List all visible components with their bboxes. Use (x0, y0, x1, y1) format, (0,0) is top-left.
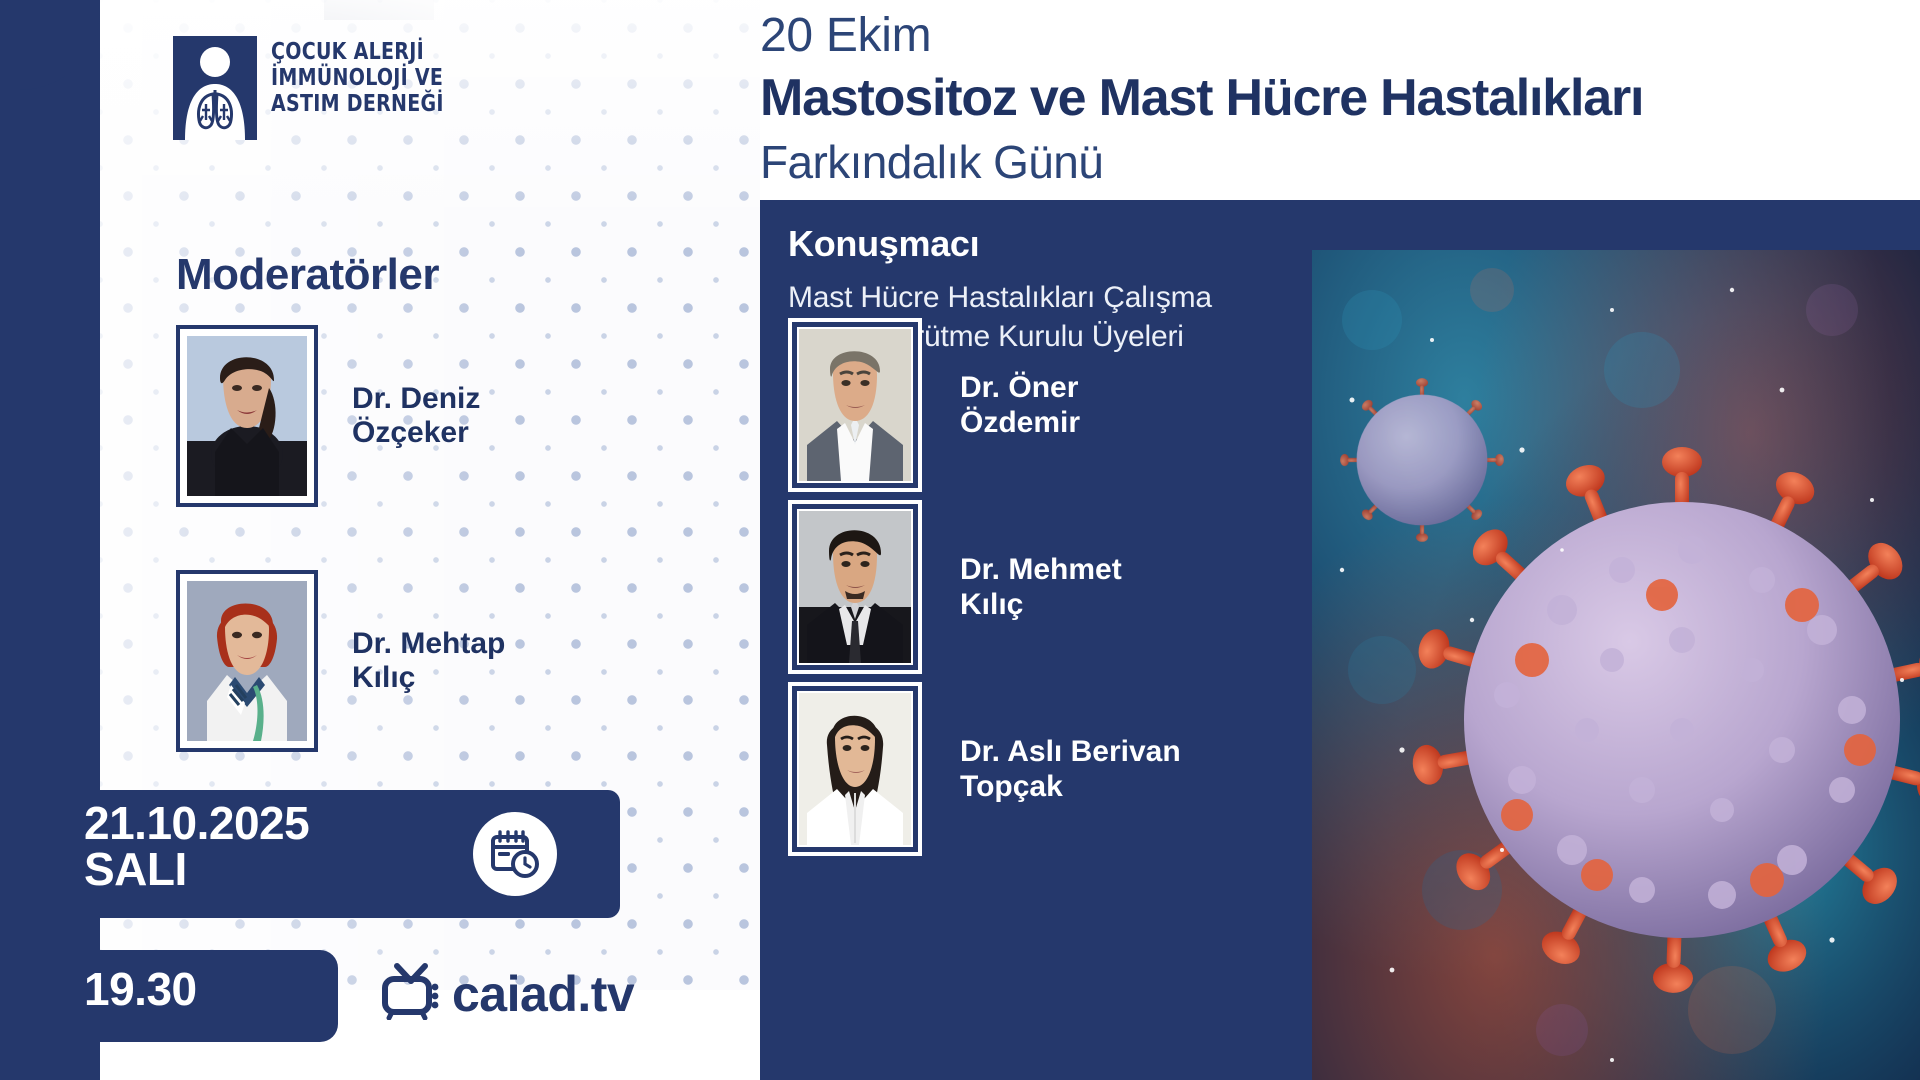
left-column: ÇOCUK ALERJİ İMMÜNOLOJİ VE ASTIM DERNEĞİ… (0, 0, 760, 1080)
channel-row[interactable]: caiad.tv (380, 962, 634, 1025)
speaker-photo-frame (788, 500, 922, 674)
speaker-photo-frame (788, 318, 922, 492)
moderator-photo-frame (176, 570, 318, 752)
header-date: 20 Ekim (760, 8, 931, 63)
speaker-item-2: Dr. Aslı Berivan Topçak (788, 682, 1181, 856)
moderator-item-1: Dr. Mehtap Kılıç (176, 570, 505, 752)
event-poster: ÇOCUK ALERJİ İMMÜNOLOJİ VE ASTIM DERNEĞİ… (0, 0, 1920, 1080)
speaker-photo-frame (788, 682, 922, 856)
left-navy-bar (0, 0, 100, 1080)
speaker-photo (797, 327, 913, 483)
moderator-name: Dr. Mehtap Kılıç (352, 627, 505, 696)
tv-icon (380, 962, 442, 1025)
event-time: 19.30 (84, 962, 197, 1016)
moderator-photo-frame (176, 325, 318, 507)
speaker-item-1: Dr. Mehmet Kılıç (788, 500, 1122, 674)
speaker-name: Dr. Aslı Berivan Topçak (960, 734, 1181, 805)
moderators-heading: Moderatörler (176, 250, 439, 300)
event-date: 21.10.2025 SALI (84, 800, 309, 892)
moderator-item-0: Dr. Deniz Özçeker (176, 325, 480, 507)
moderator-photo (185, 579, 309, 743)
speakers-heading: Konuşmacı (788, 223, 979, 265)
organization-name: ÇOCUK ALERJİ İMMÜNOLOJİ VE ASTIM DERNEĞİ (271, 36, 444, 117)
virus-cell-image (1312, 250, 1920, 1080)
moderator-name: Dr. Deniz Özçeker (352, 382, 480, 451)
speaker-name: Dr. Mehmet Kılıç (960, 552, 1122, 623)
speaker-photo (797, 691, 913, 847)
right-column: 20 Ekim Mastositoz ve Mast Hücre Hastalı… (760, 0, 1920, 1080)
organization-logo: ÇOCUK ALERJİ İMMÜNOLOJİ VE ASTIM DERNEĞİ (173, 36, 459, 140)
speaker-photo (797, 509, 913, 665)
calendar-clock-icon (473, 812, 557, 896)
moderator-photo (185, 334, 309, 498)
speakers-panel: Konuşmacı Mast Hücre Hastalıkları Çalışm… (760, 200, 1920, 1080)
page-title: Mastositoz ve Mast Hücre Hastalıkları (760, 68, 1643, 128)
page-subtitle: Farkındalık Günü (760, 135, 1103, 189)
channel-name: caiad.tv (452, 965, 634, 1023)
speaker-name: Dr. Öner Özdemir (960, 370, 1080, 441)
speaker-item-0: Dr. Öner Özdemir (788, 318, 1080, 492)
child-lungs-logo-icon (173, 36, 257, 140)
